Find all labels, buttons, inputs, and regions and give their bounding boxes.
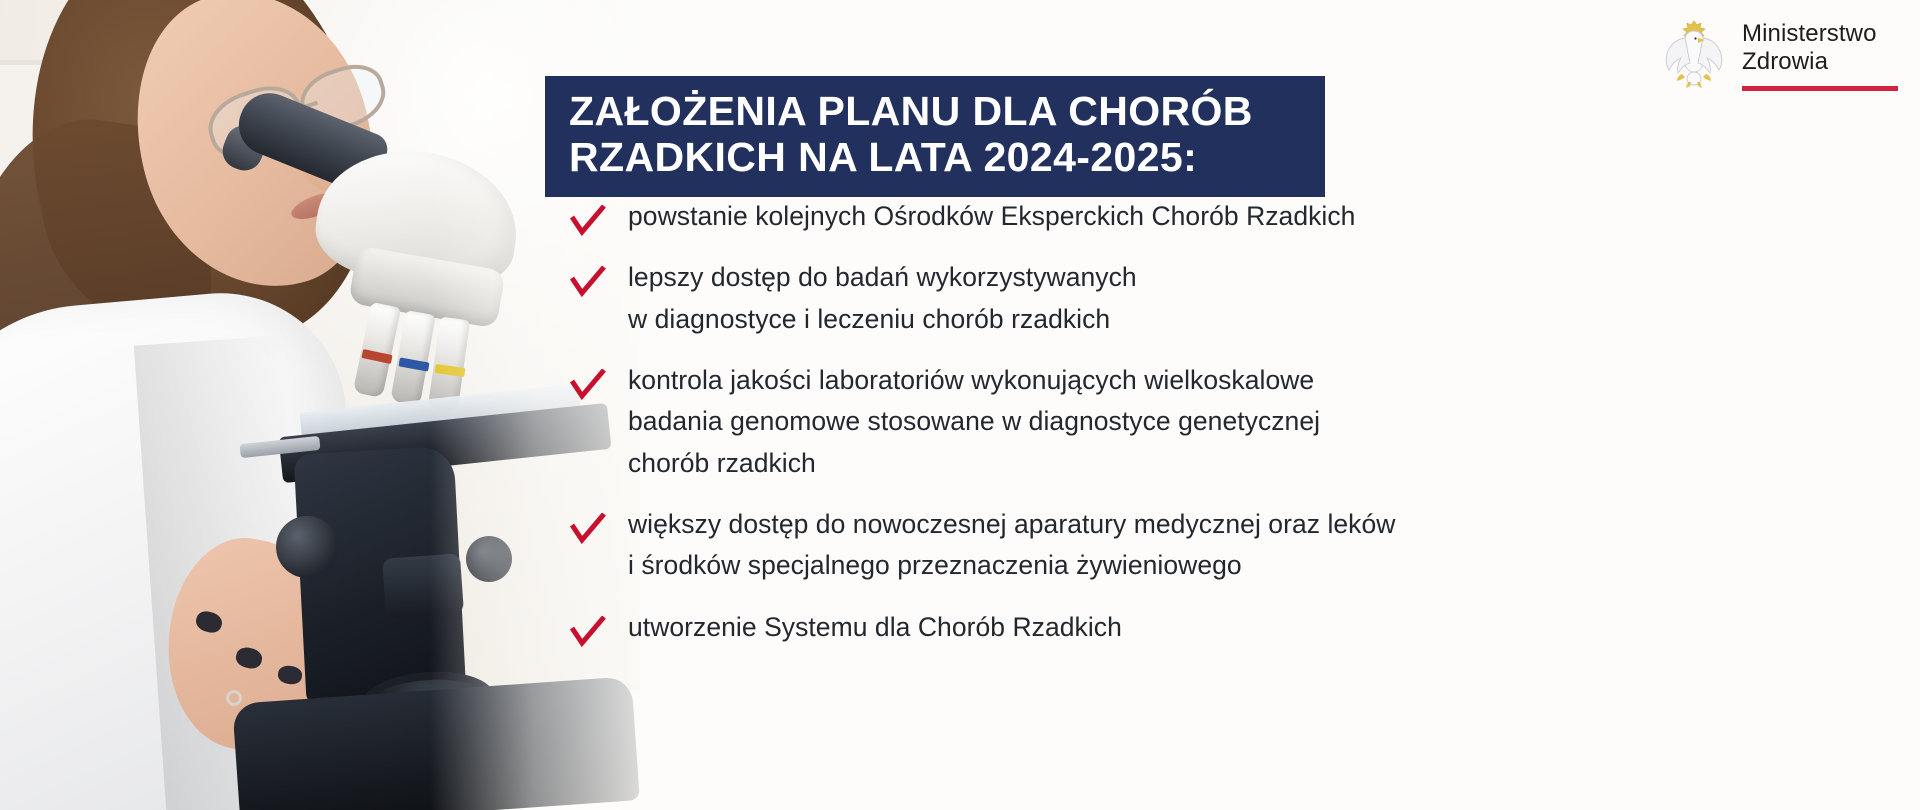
title-line-2: RZADKICH NA LATA 2024-2025: <box>569 135 1303 181</box>
list-item-line: utworzenie Systemu dla Chorób Rzadkich <box>628 612 1122 642</box>
list-item: większy dostęp do nowoczesnej aparatury … <box>570 504 1610 587</box>
microscope-coarse-focus-knob <box>276 516 338 578</box>
list-item-line: i środków specjalnego przeznaczenia żywi… <box>628 550 1242 580</box>
check-icon <box>570 616 606 648</box>
list-item: kontrola jakości laboratoriów wykonujący… <box>570 360 1610 484</box>
check-icon <box>570 266 606 298</box>
infographic-poster: Ministerstwo Zdrowia ZAŁOŻENIA PLANU DLA… <box>0 0 1920 810</box>
ministry-name-line-1: Ministerstwo <box>1742 20 1898 48</box>
ministry-name-line-2: Zdrowia <box>1742 48 1898 76</box>
list-item-line: badania genomowe stosowane w diagnostyce… <box>628 406 1320 436</box>
check-icon <box>570 513 606 545</box>
list-item-text: kontrola jakości laboratoriów wykonujący… <box>628 360 1320 484</box>
ministry-logo-red-rule <box>1742 86 1898 91</box>
list-item-line: chorób rzadkich <box>628 448 816 478</box>
list-item-text: większy dostęp do nowoczesnej aparatury … <box>628 504 1395 587</box>
list-item-line: lepszy dostęp do badań wykorzystywanych <box>628 262 1137 292</box>
check-icon <box>570 369 606 401</box>
ministry-logo-text: Ministerstwo Zdrowia <box>1742 16 1898 91</box>
microscope-base <box>232 676 640 810</box>
title-line-1: ZAŁOŻENIA PLANU DLA CHORÓB <box>569 89 1303 135</box>
list-item-text: powstanie kolejnych Ośrodków Eksperckich… <box>628 196 1355 237</box>
list-item: powstanie kolejnych Ośrodków Eksperckich… <box>570 196 1610 237</box>
polish-eagle-emblem-icon <box>1660 16 1728 92</box>
list-item: lepszy dostęp do badań wykorzystywanych … <box>570 257 1610 340</box>
list-item-line: w diagnostyce i leczeniu chorób rzadkich <box>628 304 1110 334</box>
list-item-line: kontrola jakości laboratoriów wykonujący… <box>628 365 1314 395</box>
list-item: utworzenie Systemu dla Chorób Rzadkich <box>570 607 1610 648</box>
title-block: ZAŁOŻENIA PLANU DLA CHORÓB RZADKICH NA L… <box>545 76 1325 197</box>
bullet-list: powstanie kolejnych Ośrodków Eksperckich… <box>570 196 1610 668</box>
ministry-logo: Ministerstwo Zdrowia <box>1660 16 1898 92</box>
microscope-fine-focus-knob <box>466 536 512 582</box>
list-item-line: większy dostęp do nowoczesnej aparatury … <box>628 509 1395 539</box>
check-icon <box>570 205 606 237</box>
list-item-text: lepszy dostęp do badań wykorzystywanych … <box>628 257 1137 340</box>
microscope-illustration <box>0 0 640 810</box>
list-item-line: powstanie kolejnych Ośrodków Eksperckich… <box>628 201 1355 231</box>
list-item-text: utworzenie Systemu dla Chorób Rzadkich <box>628 607 1122 648</box>
microscope-condenser <box>382 553 464 618</box>
